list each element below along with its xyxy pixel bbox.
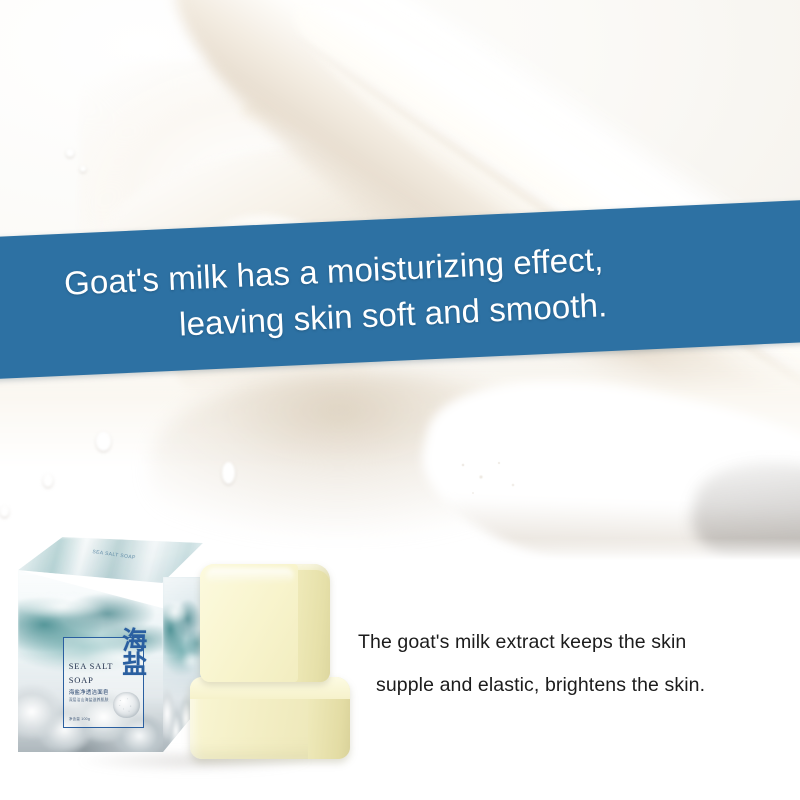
box-label-name-en-1: SEA SALT	[69, 661, 114, 671]
product-section: SEA SALT SOAP SEA SALT SOAP 海盐净透洁面皂 深层洁山…	[0, 564, 800, 800]
box-brand-cn-char-2: 盐	[122, 653, 147, 677]
soap-bar-upper-highlight	[206, 568, 294, 584]
soap-bar-upper-side	[294, 570, 330, 682]
milk-bubbles	[455, 455, 535, 505]
box-label-panel: SEA SALT SOAP 海盐净透洁面皂 深层洁山海盐滋养肌肤 净含量 100…	[63, 637, 144, 728]
box-label-subtitle-cn: 深层洁山海盐滋养肌肤	[69, 698, 109, 703]
box-label-name-en-2: SOAP	[69, 675, 94, 685]
box-brand-cn: 海 盐	[122, 629, 147, 677]
milk-droplet	[80, 166, 86, 172]
box-label-net-weight: 净含量 100g	[69, 717, 90, 722]
milk-droplet	[43, 474, 53, 487]
box-front-face: SEA SALT SOAP 海盐净透洁面皂 深层洁山海盐滋养肌肤 净含量 100…	[18, 570, 163, 752]
milk-droplet	[0, 506, 9, 517]
box-label-name-cn: 海盐净透洁面皂	[69, 688, 109, 696]
milk-droplet	[96, 432, 111, 451]
product-banner-image: Goat's milk has a moisturizing effect, l…	[0, 0, 800, 800]
sea-salt-soap-box: SEA SALT SOAP SEA SALT SOAP 海盐净透洁面皂 深层洁山…	[18, 537, 203, 752]
salt-swatch-icon	[113, 692, 140, 719]
benefit-copy-line-2: supple and elastic, brightens the skin.	[358, 664, 788, 707]
benefit-copy: The goat's milk extract keeps the skin s…	[358, 621, 788, 707]
milk-droplet	[222, 462, 235, 484]
soap-bar-lower	[190, 677, 350, 759]
benefit-copy-line-1: The goat's milk extract keeps the skin	[358, 621, 788, 664]
milk-droplet	[66, 149, 74, 157]
soap-bar-upper	[200, 564, 330, 682]
